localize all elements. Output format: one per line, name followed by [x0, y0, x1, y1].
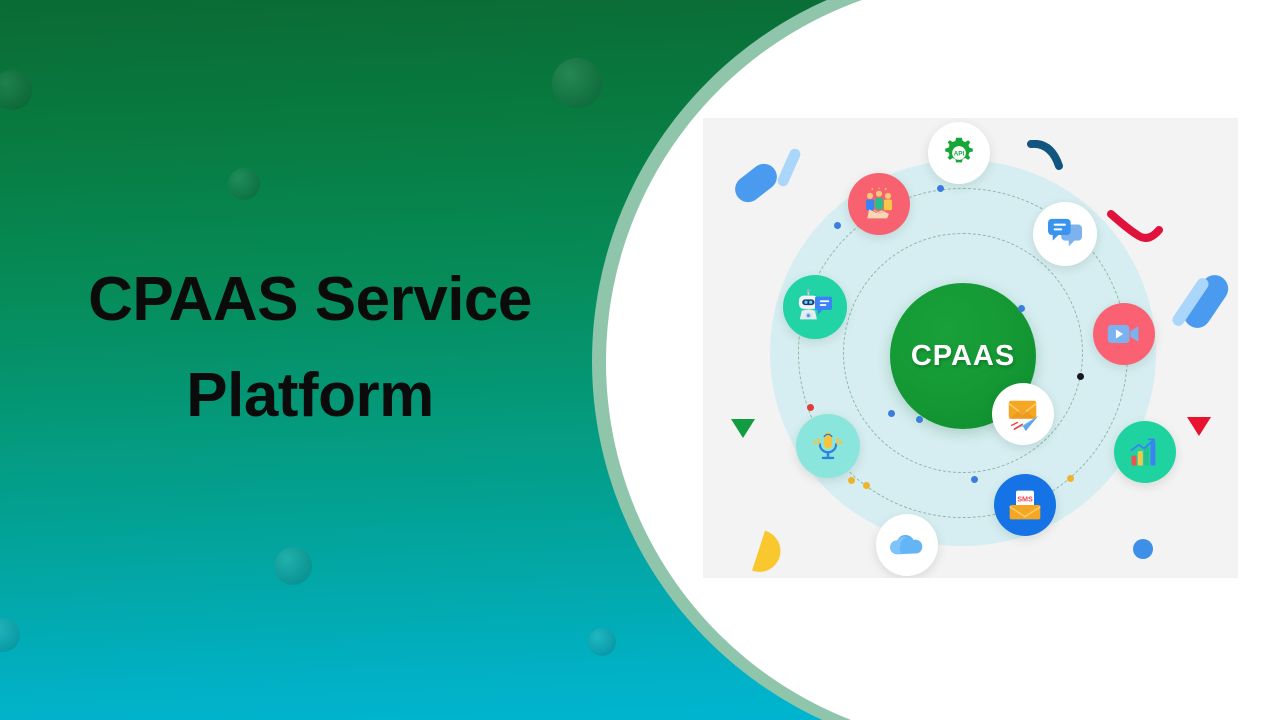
illustration-panel: CPAAS API — [703, 118, 1238, 578]
api-gear-glyph: API — [941, 135, 977, 171]
video-call-icon[interactable] — [1093, 303, 1155, 365]
page-title: CPAAS Service Platform — [40, 252, 580, 444]
microphone-glyph — [810, 428, 846, 464]
node-red-left — [807, 404, 814, 411]
core-label: CPAAS — [911, 340, 1015, 373]
handshake-icon[interactable] — [848, 173, 910, 235]
cloud-icon[interactable] — [876, 514, 938, 576]
decor-sphere-3 — [552, 58, 602, 108]
red-triangle-right — [1187, 417, 1211, 436]
node-blue-top — [937, 185, 944, 192]
green-triangle-left — [731, 419, 755, 438]
cloud-glyph — [888, 532, 926, 558]
decor-sphere-4 — [274, 547, 312, 585]
chatbot-glyph — [796, 289, 834, 325]
analytics-bar-chart-glyph — [1127, 435, 1163, 469]
voice-mic-icon[interactable] — [796, 414, 860, 478]
svg-text:API: API — [954, 151, 965, 158]
node-blue-bottom — [971, 476, 978, 483]
sms-icon[interactable]: SMS — [994, 474, 1056, 536]
decor-sphere-5 — [588, 628, 616, 656]
node-amber-lower-left — [863, 482, 870, 489]
node-amber-lower-mid — [848, 477, 855, 484]
decor-sphere-2 — [228, 168, 260, 200]
chat-bubbles-icon[interactable] — [1033, 202, 1097, 266]
red-arc-right — [1107, 210, 1165, 250]
node-amber-bottom-right — [1067, 475, 1074, 482]
node-blue-inner-right — [1018, 305, 1025, 312]
page-title-line-1: CPAAS Service — [40, 252, 580, 348]
svg-text:SMS: SMS — [1017, 494, 1033, 503]
blue-pill-top-left — [730, 159, 782, 208]
node-blue-inner-left — [888, 410, 895, 417]
chatbot-icon[interactable] — [783, 275, 847, 339]
node-blue-upper-left — [834, 222, 841, 229]
email-send-icon[interactable] — [992, 383, 1054, 445]
handshake-glyph — [861, 187, 897, 221]
api-gear-icon[interactable]: API — [928, 122, 990, 184]
node-black-right — [1077, 373, 1084, 380]
navy-arc-top-right — [1027, 140, 1077, 176]
blue-dot-bottom-right — [1133, 539, 1153, 559]
analytics-icon[interactable] — [1114, 421, 1176, 483]
email-send-glyph — [1004, 396, 1042, 432]
light-blue-bar-top-left — [776, 147, 802, 188]
slide-root: CPAAS Service Platform CPAAS — [0, 0, 1280, 720]
video-camera-glyph — [1106, 320, 1142, 348]
node-blue-mid-right — [916, 416, 923, 423]
yellow-half-moon-left — [752, 531, 786, 578]
page-title-line-2: Platform — [40, 348, 580, 444]
sms-envelope-glyph: SMS — [1007, 487, 1043, 523]
chat-bubbles-glyph — [1046, 217, 1084, 251]
